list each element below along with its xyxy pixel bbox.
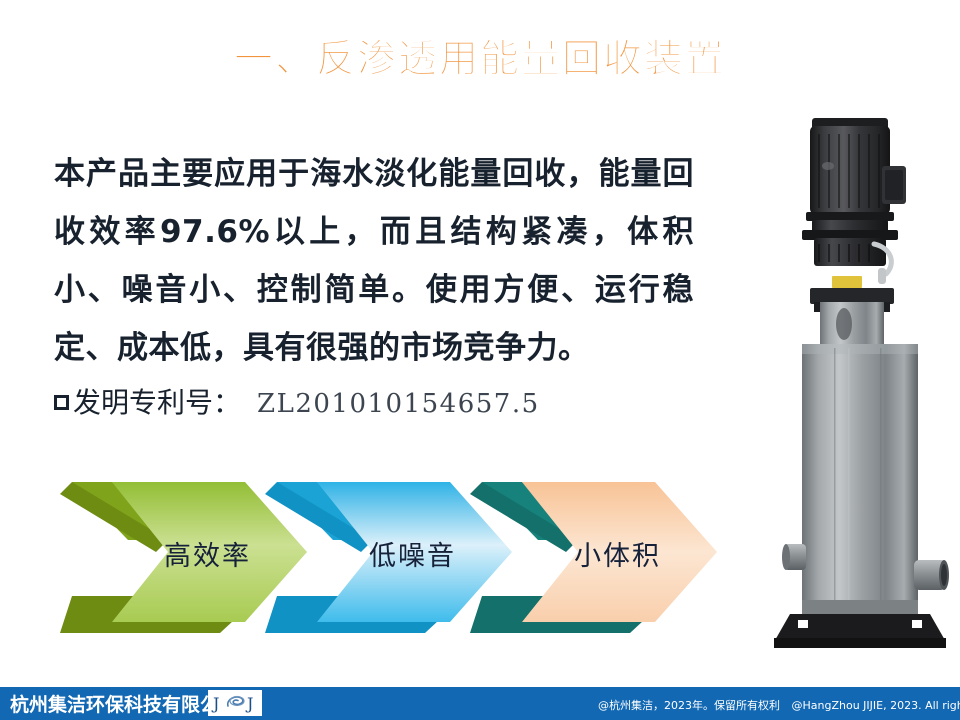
patent-line: 发明专利号： ZL201010154657.5 [54,381,540,421]
page-title: 一、反渗透用能量回收装置 [0,28,960,84]
body-paragraph: 本产品主要应用于海水淡化能量回收，能量回收效率97.6%以上，而且结构紧凑，体积… [54,145,694,377]
company-logo: J J [208,690,262,716]
svg-text:J: J [245,694,253,713]
patent-label: 发明专利号： [73,381,241,421]
footer-copyright: @杭州集洁，2023年。保留所有权利 @HangZhou JIJIE, 2023… [598,697,960,713]
chevron-shape-peach [470,478,717,633]
svg-text:J: J [211,694,219,713]
presentation-slide: 一、反渗透用能量回收装置 本产品主要应用于海水淡化能量回收，能量回收效率97.6… [0,0,960,720]
patent-number: ZL201010154657.5 [257,389,540,419]
chevron-step-3[interactable]: 小体积 [470,478,717,633]
hollow-square-bullet-icon [54,395,69,410]
footer-company-name: 杭州集洁环保科技有限公司 [10,690,238,717]
copyright-chinese: @杭州集洁，2023年。保留所有权利 [598,699,780,712]
product-photo [762,108,958,653]
chevron-process-row: 高效率 低噪音 [60,478,700,633]
copyright-english: @HangZhou JIJIE, 2023. All rights reserv… [792,699,960,712]
jijie-logo-icon: J J [210,692,260,714]
pump-illustration [762,108,958,653]
